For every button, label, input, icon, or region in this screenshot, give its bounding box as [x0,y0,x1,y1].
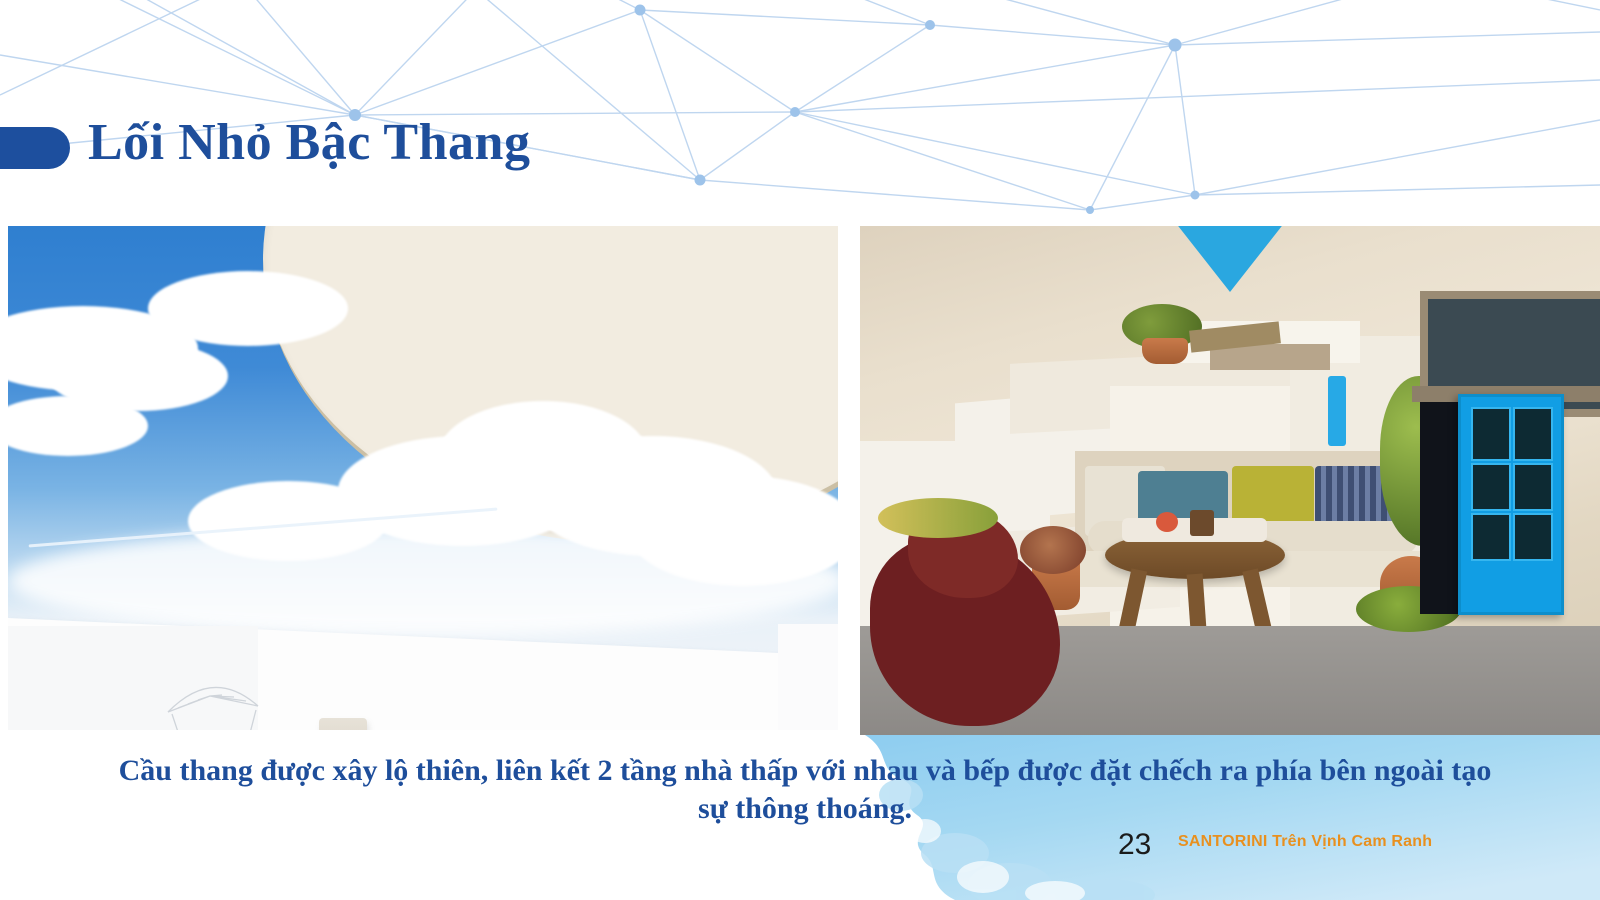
slide-canvas: Lối Nhỏ Bậc Thang [0,0,1600,900]
concrete-stool [319,718,367,730]
door-pane [1471,407,1511,461]
right-photo [860,226,1600,735]
brand-footer: SANTORINI Trên Vịnh Cam Ranh [1178,833,1432,851]
slide-caption: Cầu thang được xây lộ thiên, liên kết 2 … [110,752,1500,827]
blue-door [1458,394,1564,615]
door-pane [1513,407,1553,461]
page-title: Lối Nhỏ Bậc Thang [88,113,530,172]
page-number: 23 [1118,828,1151,862]
title-accent-tab [0,127,70,169]
dried-plant [1020,526,1086,574]
left-photo [8,226,838,730]
door-pane [1471,463,1511,511]
door-pane [1513,463,1553,511]
door-pane [1471,513,1511,561]
wire-chair [158,666,268,730]
right-wall-pillar [778,624,838,730]
terracotta-pot [1142,338,1188,364]
succulent-tip [878,498,998,538]
cloud-haze [8,526,838,636]
cloud-shape [148,271,348,346]
blue-shutter [1328,376,1346,446]
cushion-olive [1232,466,1314,524]
table-cup [1190,510,1214,536]
table-fruit [1156,512,1178,532]
blue-awning-triangle [1175,226,1285,292]
door-pane [1513,513,1553,561]
